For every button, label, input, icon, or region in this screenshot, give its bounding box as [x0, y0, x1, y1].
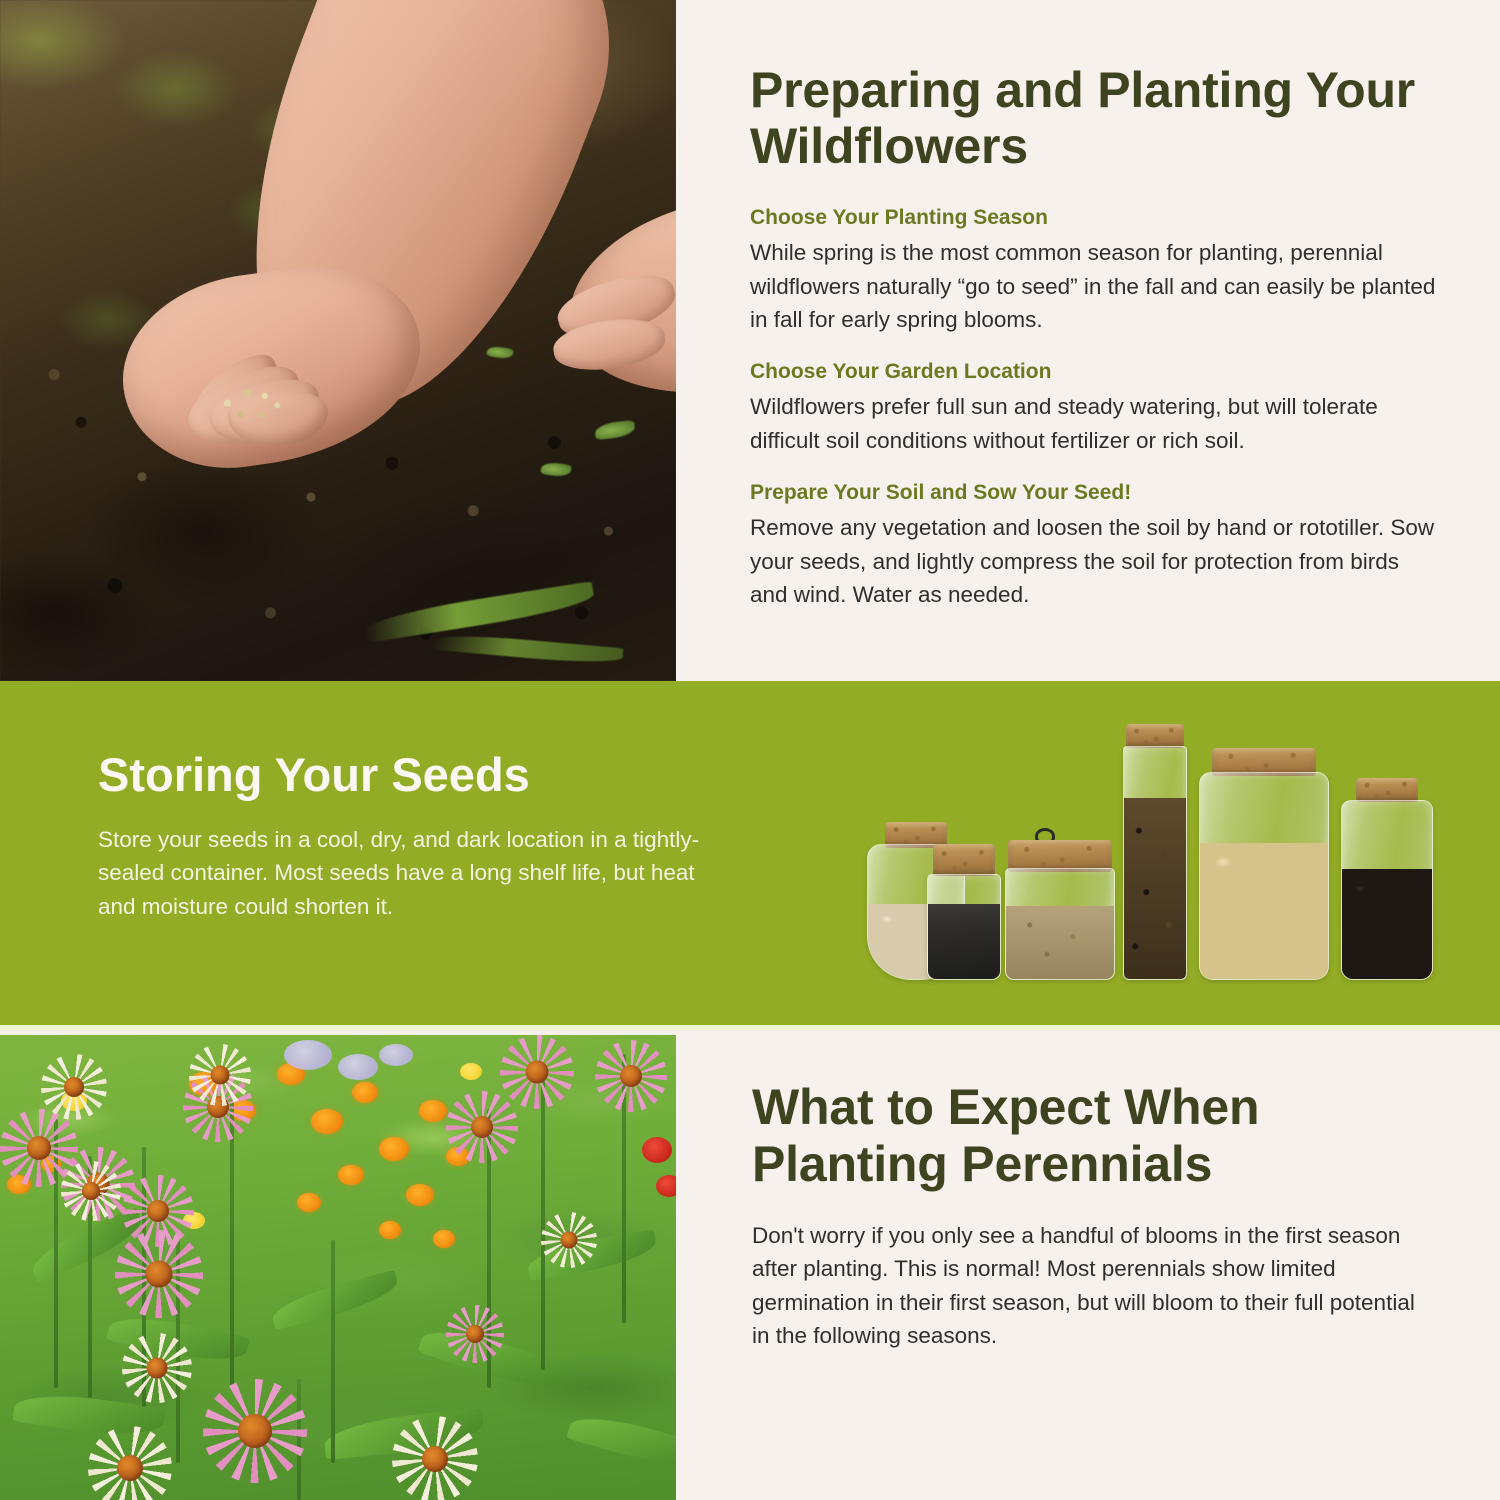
pink-coneflower — [500, 1035, 574, 1109]
perennials-title: What to Expect When Planting Perennials — [752, 1079, 1438, 1193]
flower-disc — [620, 1065, 642, 1087]
perennials-body: Don't worry if you only see a handful of… — [752, 1219, 1438, 1352]
pale-coneflower — [122, 1333, 192, 1403]
lilac-flower-cluster — [379, 1044, 413, 1066]
flower-disc — [145, 1261, 172, 1288]
flower-disc — [211, 1066, 230, 1085]
cork-lid-icon — [933, 844, 995, 876]
seed-jars-photo — [855, 722, 1455, 980]
orange-flower-cluster — [379, 1221, 401, 1239]
brown-grain-jar — [1005, 832, 1115, 980]
section-preparing-and-planting: Preparing and Planting Your Wildflowers … — [0, 0, 1500, 681]
sunflower-seed-jar — [1341, 778, 1433, 980]
orange-flower-cluster — [379, 1137, 409, 1161]
block-garden-location: Choose Your Garden Location Wildflowers … — [750, 358, 1440, 457]
seed-fill — [1200, 843, 1328, 979]
infographic-page: Preparing and Planting Your Wildflowers … — [0, 0, 1500, 1500]
seed-fill — [1342, 869, 1432, 979]
subhead-garden-location: Choose Your Garden Location — [750, 358, 1440, 385]
page-title: Preparing and Planting Your Wildflowers — [750, 62, 1440, 174]
pale-coneflower — [541, 1212, 597, 1268]
pink-coneflower — [203, 1379, 307, 1483]
flower-disc — [238, 1414, 272, 1448]
soil-sowing-photo — [0, 0, 676, 681]
storing-body: Store your seeds in a cool, dry, and dar… — [98, 823, 738, 924]
flower-disc — [64, 1077, 84, 1097]
black-seed-jar — [927, 844, 1001, 980]
glass-body — [1123, 746, 1187, 980]
flower-disc — [422, 1446, 448, 1472]
preparing-copy-column: Preparing and Planting Your Wildflowers … — [676, 0, 1500, 681]
pink-coneflower — [115, 1230, 203, 1318]
lilac-flower-cluster — [284, 1040, 332, 1070]
seed-fill — [1124, 798, 1186, 979]
flower-disc — [27, 1136, 51, 1160]
flower-disc — [471, 1116, 493, 1138]
seed-fill — [928, 904, 1000, 979]
pale-coneflower — [41, 1054, 107, 1120]
flower-disc — [526, 1061, 549, 1084]
flower-disc — [466, 1325, 484, 1343]
flower-disc — [560, 1231, 577, 1248]
subhead-prepare-soil: Prepare Your Soil and Sow Your Seed! — [750, 479, 1440, 506]
glass-body — [1005, 868, 1115, 980]
storing-copy-column: Storing Your Seeds Store your seeds in a… — [98, 749, 738, 924]
pink-coneflower — [446, 1305, 504, 1363]
flower-disc — [146, 1357, 167, 1378]
glass-body — [1199, 772, 1329, 980]
body-prepare-soil: Remove any vegetation and loosen the soi… — [750, 511, 1440, 611]
orange-flower-cluster — [433, 1230, 455, 1248]
flower-disc — [82, 1182, 100, 1200]
pale-coneflower — [61, 1161, 121, 1221]
red-flower-cluster — [656, 1175, 676, 1197]
band-underline — [0, 1025, 1500, 1030]
pumpkin-seed-jar — [1199, 748, 1329, 980]
glass-body — [927, 874, 1001, 980]
flower-disc — [147, 1200, 169, 1222]
section-what-to-expect: What to Expect When Planting Perennials … — [0, 1035, 1500, 1500]
flower-stem — [331, 1240, 335, 1463]
block-planting-season: Choose Your Planting Season While spring… — [750, 204, 1440, 336]
seed-fill — [1006, 906, 1114, 979]
lilac-flower-cluster — [338, 1054, 378, 1080]
pale-coneflower — [392, 1416, 478, 1500]
cork-lid-icon — [1126, 724, 1184, 748]
flower-stem — [230, 1100, 234, 1388]
subhead-planting-season: Choose Your Planting Season — [750, 204, 1440, 231]
wildflower-meadow-photo — [0, 1035, 676, 1500]
cork-lid-icon — [1356, 778, 1418, 802]
orange-flower-cluster — [406, 1184, 434, 1206]
tall-dark-seed-tube — [1123, 726, 1187, 980]
glass-body — [1341, 800, 1433, 980]
flower-stem — [541, 1063, 545, 1370]
pink-coneflower — [446, 1091, 518, 1163]
flower-disc — [117, 1455, 143, 1481]
yellow-flower-cluster — [460, 1063, 482, 1080]
body-garden-location: Wildflowers prefer full sun and steady w… — [750, 390, 1440, 457]
body-planting-season: While spring is the most common season f… — [750, 236, 1440, 336]
orange-flower-cluster — [352, 1082, 378, 1103]
perennials-copy-column: What to Expect When Planting Perennials … — [676, 1035, 1500, 1500]
pink-coneflower — [595, 1040, 667, 1112]
storing-title: Storing Your Seeds — [98, 749, 738, 801]
block-prepare-soil: Prepare Your Soil and Sow Your Seed! Rem… — [750, 479, 1440, 611]
